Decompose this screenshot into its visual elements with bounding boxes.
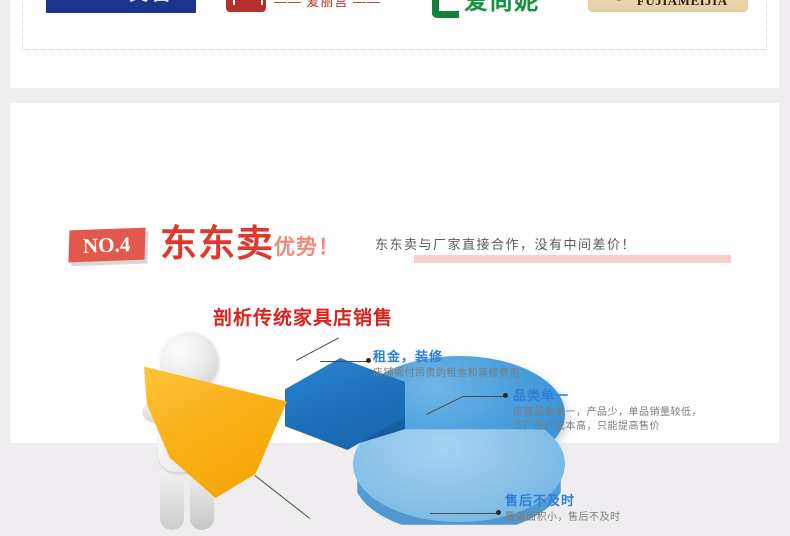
- callout-category-title: 品类单一: [513, 388, 702, 405]
- advantage-section-panel: NO.4 东东卖 优势！ 东东卖与厂家直接合作，没有中间差价！ 剖析传统家具店销…: [10, 103, 779, 443]
- callout-service-desc: 覆盖面积小，售后不及时: [505, 511, 621, 526]
- brand-logo-ifree[interactable]: ifree 发睿: [30, 0, 212, 42]
- brand-logo-aishn[interactable]: AISHN 爱尚妮: [395, 0, 577, 42]
- brand-aishn-cn: 爱尚妮: [464, 0, 539, 14]
- brand-ailigong-cn: —— 爱丽宫 ——: [274, 0, 381, 10]
- spiral-mark-icon: ❂: [608, 0, 630, 5]
- callout-service: 售后不及时 覆盖面积小，售后不及时: [505, 493, 621, 525]
- hook-icon: [432, 0, 459, 18]
- brand-logo-fujiameijia[interactable]: ❂ 富家美佳 FUJIAMEIJIA: [577, 0, 759, 42]
- callout-category-desc-line1: 店面品类单一，产品少，单品销量较低，: [513, 406, 702, 421]
- section-number-label: NO.4: [83, 234, 131, 257]
- callout-service-title: 售后不及时: [505, 493, 621, 510]
- brand-strip-panel: ifree 发睿 AILIGONG —— 爱丽宫 —— AISHN 爱尚妮: [10, 0, 779, 88]
- brand-ifree-cn: 发睿: [124, 0, 174, 4]
- arch-heart-icon: [226, 0, 266, 12]
- callout-rent-title: 租金，装修: [373, 349, 520, 366]
- headline-brand: 东东卖: [160, 221, 274, 267]
- headline-suffix: 优势！: [274, 237, 340, 258]
- figure-leg-left: [160, 464, 184, 530]
- callout-category: 品类单一 店面品类单一，产品少，单品销量较低， 工厂生产成本高，只能提高售价: [513, 388, 702, 435]
- brand-fujiameijia-en: FUJIAMEIJIA: [637, 0, 728, 7]
- section-number-badge: NO.4: [68, 228, 145, 263]
- callout-rent-desc: 店铺需付昂贵的租金和装修费用: [373, 367, 520, 382]
- brand-logo-ailigong[interactable]: AILIGONG —— 爱丽宫 ——: [212, 0, 394, 42]
- headline-note: 东东卖与厂家直接合作，没有中间差价！: [375, 234, 636, 253]
- brand-ifree-en: ifree: [68, 0, 118, 3]
- brand-logo-row: ifree 发睿 AILIGONG —— 爱丽宫 —— AISHN 爱尚妮: [30, 0, 759, 42]
- headline-underline-bar: [414, 255, 731, 263]
- callout-rent: 租金，装修 店铺需付昂贵的租金和装修费用: [373, 349, 520, 381]
